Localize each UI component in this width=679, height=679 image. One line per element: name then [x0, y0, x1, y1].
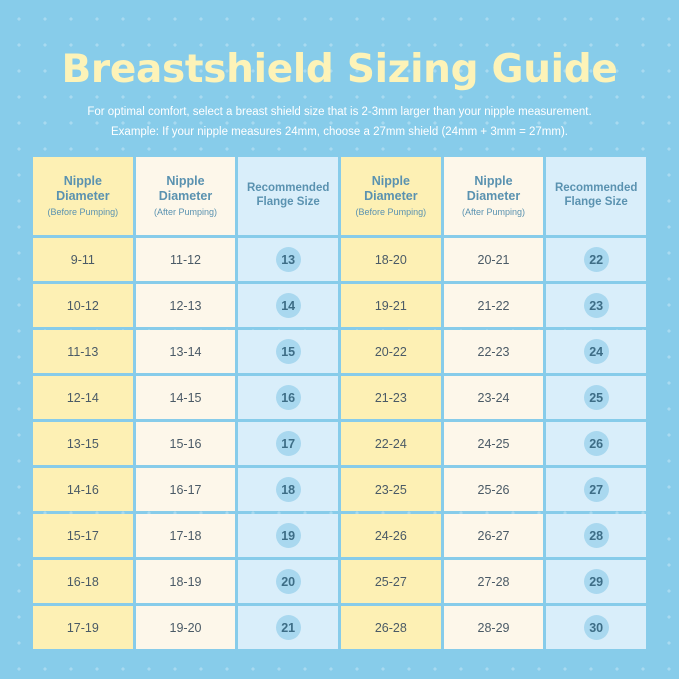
table-cell: 21-23 — [341, 376, 441, 419]
column-header: Nipple Diameter(Before Pumping) — [341, 157, 441, 235]
table-cell: 15-16 — [136, 422, 236, 465]
table-cell: 17-18 — [136, 514, 236, 557]
table-cell: 22 — [546, 238, 646, 281]
table-cell: 11-13 — [33, 330, 133, 373]
table-column: Nipple Diameter(After Pumping)20-2121-22… — [444, 157, 544, 649]
table-cell: 14-15 — [136, 376, 236, 419]
flange-size-badge: 14 — [276, 293, 301, 318]
table-cell: 28-29 — [444, 606, 544, 649]
table-cell: 22-23 — [444, 330, 544, 373]
table-column: Nipple Diameter(After Pumping)11-1212-13… — [136, 157, 236, 649]
subtitle-line-2: Example: If your nipple measures 24mm, c… — [0, 126, 679, 138]
table-cell: 18 — [238, 468, 338, 511]
table-cell: 19-20 — [136, 606, 236, 649]
table-cell: 16-18 — [33, 560, 133, 603]
table-cell: 15 — [238, 330, 338, 373]
table-cell: 13-14 — [136, 330, 236, 373]
table-cell: 24-26 — [341, 514, 441, 557]
table-cell: 25-27 — [341, 560, 441, 603]
column-header-title: Recommended Flange Size — [552, 182, 640, 209]
table-cell: 24 — [546, 330, 646, 373]
table-cell: 23-25 — [341, 468, 441, 511]
sizing-table: Nipple Diameter(Before Pumping)9-1110-12… — [33, 157, 646, 649]
table-column: Recommended Flange Size13141516171819202… — [238, 157, 338, 649]
table-cell: 13 — [238, 238, 338, 281]
table-cell: 27 — [546, 468, 646, 511]
table-column: Nipple Diameter(Before Pumping)18-2019-2… — [341, 157, 441, 649]
column-header-subtitle: (Before Pumping) — [356, 207, 427, 218]
table-cell: 20-21 — [444, 238, 544, 281]
table-cell: 26 — [546, 422, 646, 465]
table-cell: 29 — [546, 560, 646, 603]
subtitle-line-1: For optimal comfort, select a breast shi… — [0, 106, 679, 118]
table-cell: 21-22 — [444, 284, 544, 327]
flange-size-badge: 15 — [276, 339, 301, 364]
table-cell: 23-24 — [444, 376, 544, 419]
table-cell: 30 — [546, 606, 646, 649]
table-cell: 18-19 — [136, 560, 236, 603]
table-cell: 26-27 — [444, 514, 544, 557]
table-cell: 12-14 — [33, 376, 133, 419]
table-cell: 14 — [238, 284, 338, 327]
table-cell: 16 — [238, 376, 338, 419]
column-header: Recommended Flange Size — [546, 157, 646, 235]
table-cell: 14-16 — [33, 468, 133, 511]
flange-size-badge: 28 — [584, 523, 609, 548]
table-cell: 19-21 — [341, 284, 441, 327]
column-header: Nipple Diameter(After Pumping) — [136, 157, 236, 235]
column-header-subtitle: (After Pumping) — [462, 207, 525, 218]
flange-size-badge: 21 — [276, 615, 301, 640]
table-cell: 17 — [238, 422, 338, 465]
table-cell: 9-11 — [33, 238, 133, 281]
column-header: Nipple Diameter(After Pumping) — [444, 157, 544, 235]
column-header: Nipple Diameter(Before Pumping) — [33, 157, 133, 235]
table-cell: 27-28 — [444, 560, 544, 603]
flange-size-badge: 30 — [584, 615, 609, 640]
table-cell: 26-28 — [341, 606, 441, 649]
flange-size-badge: 24 — [584, 339, 609, 364]
table-cell: 15-17 — [33, 514, 133, 557]
table-cell: 25 — [546, 376, 646, 419]
table-cell: 20-22 — [341, 330, 441, 373]
flange-size-badge: 27 — [584, 477, 609, 502]
table-cell: 18-20 — [341, 238, 441, 281]
table-cell: 25-26 — [444, 468, 544, 511]
sizing-guide-page: Breastshield Sizing Guide For optimal co… — [0, 0, 679, 679]
flange-size-badge: 26 — [584, 431, 609, 456]
column-header-title: Nipple Diameter — [347, 174, 435, 204]
flange-size-badge: 22 — [584, 247, 609, 272]
page-title: Breastshield Sizing Guide — [0, 47, 679, 92]
table-cell: 11-12 — [136, 238, 236, 281]
table-cell: 10-12 — [33, 284, 133, 327]
flange-size-badge: 13 — [276, 247, 301, 272]
table-cell: 19 — [238, 514, 338, 557]
table-cell: 12-13 — [136, 284, 236, 327]
column-header-title: Nipple Diameter — [450, 174, 538, 204]
table-cell: 16-17 — [136, 468, 236, 511]
table-cell: 20 — [238, 560, 338, 603]
table-cell: 23 — [546, 284, 646, 327]
column-header-title: Nipple Diameter — [142, 174, 230, 204]
flange-size-badge: 23 — [584, 293, 609, 318]
column-header-subtitle: (After Pumping) — [154, 207, 217, 218]
table-cell: 21 — [238, 606, 338, 649]
column-header-title: Recommended Flange Size — [244, 182, 332, 209]
table-cell: 24-25 — [444, 422, 544, 465]
column-header-subtitle: (Before Pumping) — [48, 207, 119, 218]
table-cell: 22-24 — [341, 422, 441, 465]
flange-size-badge: 17 — [276, 431, 301, 456]
flange-size-badge: 29 — [584, 569, 609, 594]
table-cell: 13-15 — [33, 422, 133, 465]
flange-size-badge: 16 — [276, 385, 301, 410]
table-cell: 17-19 — [33, 606, 133, 649]
flange-size-badge: 19 — [276, 523, 301, 548]
flange-size-badge: 25 — [584, 385, 609, 410]
flange-size-badge: 18 — [276, 477, 301, 502]
table-cell: 28 — [546, 514, 646, 557]
table-column: Nipple Diameter(Before Pumping)9-1110-12… — [33, 157, 133, 649]
table-column: Recommended Flange Size22232425262728293… — [546, 157, 646, 649]
column-header: Recommended Flange Size — [238, 157, 338, 235]
column-header-title: Nipple Diameter — [39, 174, 127, 204]
flange-size-badge: 20 — [276, 569, 301, 594]
